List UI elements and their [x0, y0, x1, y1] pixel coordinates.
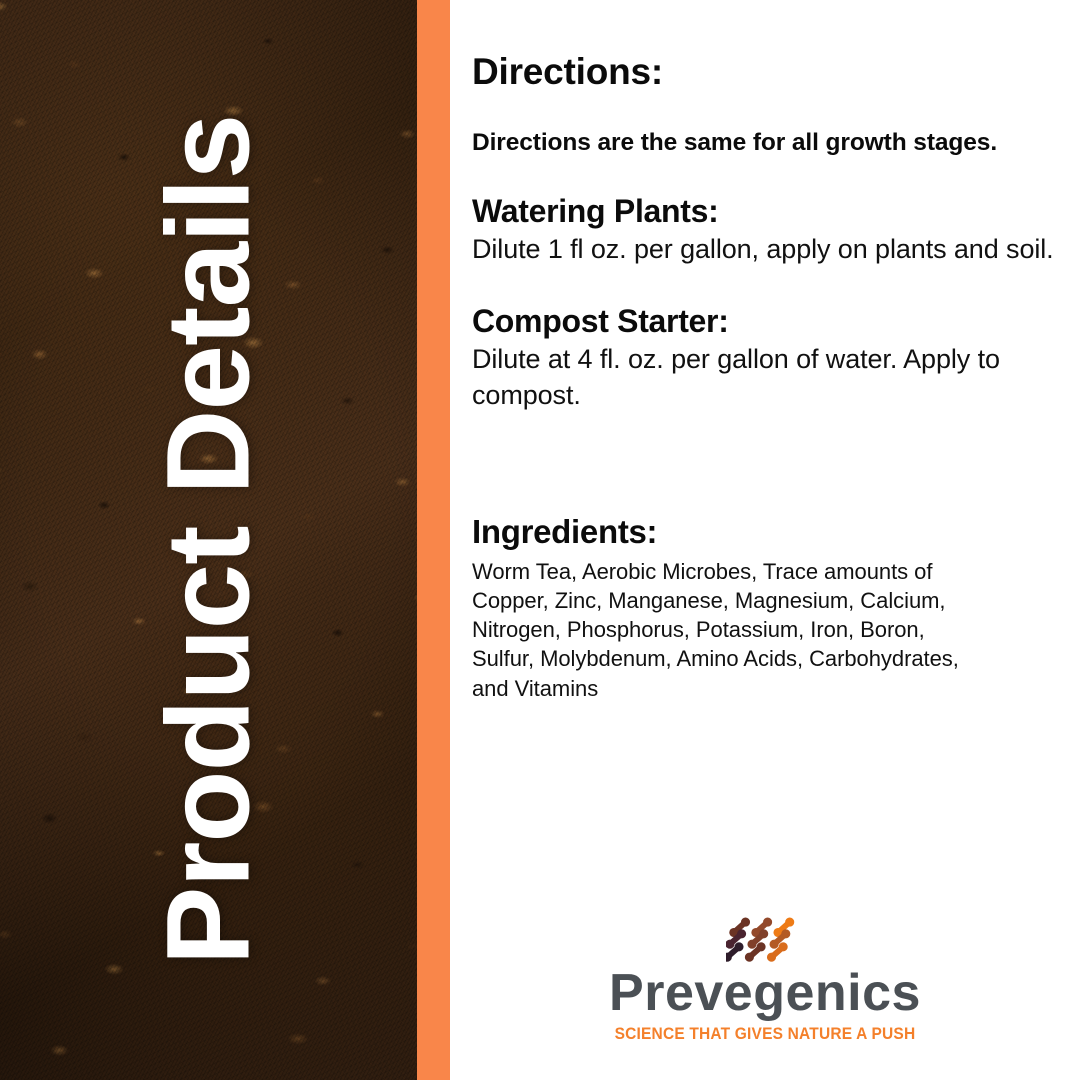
- watering-plants-block: Watering Plants: Dilute 1 fl oz. per gal…: [472, 194, 1072, 268]
- compost-starter-body: Dilute at 4 fl. oz. per gallon of water.…: [472, 342, 1068, 414]
- compost-starter-heading: Compost Starter:: [472, 304, 1072, 340]
- ingredients-block: Ingredients: Worm Tea, Aerobic Microbes,…: [472, 514, 1072, 703]
- watering-plants-body: Dilute 1 fl oz. per gallon, apply on pla…: [472, 232, 1068, 268]
- content-panel: Directions: Directions are the same for …: [450, 0, 1080, 1080]
- content-body: Directions: Directions are the same for …: [472, 52, 1072, 703]
- soil-background-panel: [0, 0, 417, 1080]
- watering-plants-heading: Watering Plants:: [472, 194, 1072, 230]
- soil-vignette-overlay: [0, 0, 417, 1080]
- ingredients-heading: Ingredients:: [472, 514, 1072, 551]
- directions-intro-text: Directions are the same for all growth s…: [472, 127, 1064, 158]
- product-details-graphic: Product Details Directions: Directions a…: [0, 0, 1080, 1080]
- directions-heading: Directions:: [472, 52, 1072, 92]
- accent-divider-stripe: [417, 0, 450, 1080]
- brand-wordmark: Prevegenics: [609, 967, 921, 1019]
- compost-starter-block: Compost Starter: Dilute at 4 fl. oz. per…: [472, 304, 1072, 414]
- ingredients-list-text: Worm Tea, Aerobic Microbes, Trace amount…: [472, 557, 992, 703]
- brand-logo: Prevegenics SCIENCE THAT GIVES NATURE A …: [450, 913, 1080, 1043]
- brand-tagline: SCIENCE THAT GIVES NATURE A PUSH: [615, 1026, 916, 1043]
- prevegenics-molecule-icon: [726, 913, 804, 965]
